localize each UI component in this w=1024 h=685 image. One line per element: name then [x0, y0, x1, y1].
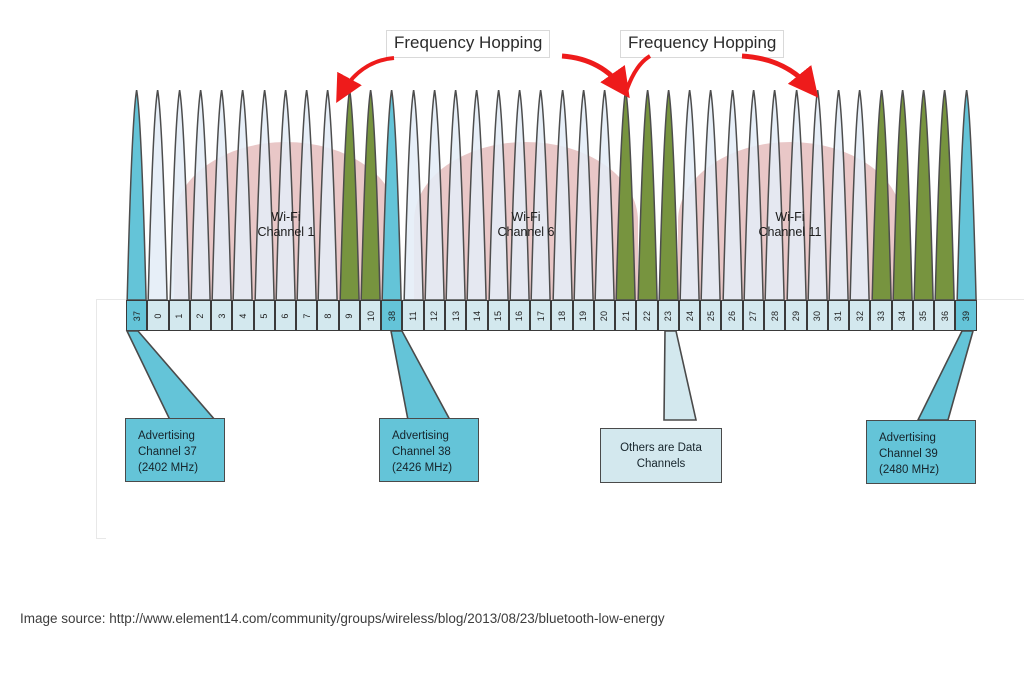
channel-cell-30[interactable]: 30 — [807, 300, 828, 331]
spectrum-lobe-29 — [786, 90, 807, 300]
spectrum-lobe-2 — [190, 90, 211, 300]
channel-cell-19[interactable]: 19 — [573, 300, 594, 331]
channel-cell-label: 7 — [302, 313, 312, 318]
channel-cell-16[interactable]: 16 — [509, 300, 530, 331]
spectrum-lobe-14 — [466, 90, 487, 300]
channel-cell-28[interactable]: 28 — [764, 300, 785, 331]
channel-cell-20[interactable]: 20 — [594, 300, 615, 331]
spectrum-lobe-18 — [552, 90, 573, 300]
channel-cell-label: 23 — [663, 310, 673, 320]
callout-advertising-38[interactable]: Advertising Channel 38 (2426 MHz) — [379, 418, 479, 482]
channel-cell-9[interactable]: 9 — [339, 300, 360, 331]
channel-cell-label: 27 — [748, 310, 758, 320]
callout-line2: Channel 37 — [138, 444, 214, 460]
channel-cell-label: 24 — [685, 310, 695, 320]
wifi-label-line1: Wi-Fi — [730, 210, 850, 225]
channel-cell-label: 10 — [366, 310, 376, 320]
channel-cell-label: 29 — [791, 310, 801, 320]
channel-cell-label: 17 — [536, 310, 546, 320]
callout-line3: (2426 MHz) — [392, 460, 468, 476]
spectrum-lobe-7 — [296, 90, 317, 300]
channel-cell-label: 2 — [195, 313, 205, 318]
channel-cell-label: 28 — [770, 310, 780, 320]
channel-cell-8[interactable]: 8 — [317, 300, 338, 331]
wifi-label-line2: Channel 1 — [226, 225, 346, 240]
channel-cell-7[interactable]: 7 — [296, 300, 317, 331]
spectrum-lobe-22 — [637, 90, 658, 300]
wifi-label-line2: Channel 6 — [466, 225, 586, 240]
channel-cell-18[interactable]: 18 — [551, 300, 572, 331]
spectrum-lobe-5 — [254, 90, 275, 300]
channel-cell-label: 20 — [599, 310, 609, 320]
channel-cell-label: 3 — [217, 313, 227, 318]
wifi-dome-6-label: Wi-Fi Channel 6 — [466, 210, 586, 240]
slide-canvas: Wi-Fi Channel 1 Wi-Fi Channel 6 Wi-Fi Ch… — [0, 0, 1024, 685]
spectrum-lobe-24 — [679, 90, 700, 300]
channel-cell-6[interactable]: 6 — [275, 300, 296, 331]
channel-cell-33[interactable]: 33 — [870, 300, 891, 331]
spectrum-lobe-13 — [445, 90, 466, 300]
spectrum-lobe-21 — [615, 90, 636, 300]
channel-cell-label: 1 — [174, 313, 184, 318]
channel-cell-label: 37 — [132, 310, 142, 320]
spectrum-lobe-34 — [892, 90, 913, 300]
spectrum-lobe-36 — [934, 90, 955, 300]
channel-cell-label: 38 — [387, 310, 397, 320]
spectrum-lobe-9 — [339, 90, 360, 300]
callout-line2: Channels — [609, 456, 713, 472]
channel-cell-label: 32 — [855, 310, 865, 320]
channel-cell-21[interactable]: 21 — [615, 300, 636, 331]
channel-cell-label: 12 — [429, 310, 439, 320]
channel-cell-label: 36 — [940, 310, 950, 320]
wifi-label-line2: Channel 11 — [730, 225, 850, 240]
channel-cell-label: 22 — [642, 310, 652, 320]
callout-line1: Advertising — [879, 430, 965, 446]
spectrum-lobe-27 — [743, 90, 764, 300]
channel-cell-label: 15 — [493, 310, 503, 320]
channel-cell-label: 26 — [727, 310, 737, 320]
spectrum-lobe-38 — [381, 90, 402, 300]
wifi-label-line1: Wi-Fi — [226, 210, 346, 225]
spectrum-lobe-15 — [488, 90, 509, 300]
channel-cell-label: 11 — [408, 311, 418, 321]
channel-cell-label: 18 — [557, 310, 567, 320]
label-frequency-hopping-left: Frequency Hopping — [386, 30, 550, 58]
arrow-hop-to-channel-33 — [740, 52, 830, 102]
channel-cell-label: 14 — [472, 310, 482, 320]
channel-cell-label: 8 — [323, 313, 333, 318]
callout-line1: Advertising — [392, 428, 468, 444]
ble-spectrum-chart: Wi-Fi Channel 1 Wi-Fi Channel 6 Wi-Fi Ch… — [126, 90, 977, 300]
callout-data-channels[interactable]: Others are Data Channels — [600, 428, 722, 483]
callout-line3: (2402 MHz) — [138, 460, 214, 476]
spectrum-lobe-19 — [573, 90, 594, 300]
wifi-dome-1-label: Wi-Fi Channel 1 — [226, 210, 346, 240]
leader-line-adv39 — [900, 325, 1010, 425]
wifi-label-line1: Wi-Fi — [466, 210, 586, 225]
channel-cell-label: 6 — [280, 313, 290, 318]
channel-cell-17[interactable]: 17 — [530, 300, 551, 331]
channel-cell-label: 30 — [812, 310, 822, 320]
channel-cell-label: 19 — [578, 310, 588, 320]
channel-cell-label: 39 — [961, 310, 971, 320]
spectrum-lobe-31 — [828, 90, 849, 300]
callout-advertising-39[interactable]: Advertising Channel 39 (2480 MHz) — [866, 420, 976, 484]
guide-line-bottom — [96, 538, 106, 539]
callout-advertising-37[interactable]: Advertising Channel 37 (2402 MHz) — [125, 418, 225, 482]
spectrum-lobe-17 — [530, 90, 551, 300]
channel-cell-label: 5 — [259, 313, 269, 318]
leader-line-adv38 — [370, 325, 510, 425]
spectrum-lobe-25 — [700, 90, 721, 300]
spectrum-lobe-35 — [913, 90, 934, 300]
channel-cell-label: 21 — [621, 310, 631, 320]
callout-line1: Others are Data — [609, 440, 713, 456]
spectrum-lobe-37 — [126, 90, 147, 300]
spectrum-lobe-39 — [956, 90, 977, 300]
channel-cell-label: 13 — [451, 310, 461, 320]
callout-line3: (2480 MHz) — [879, 462, 965, 478]
spectrum-lobe-6 — [275, 90, 296, 300]
spectrum-lobe-32 — [849, 90, 870, 300]
channel-cell-label: 25 — [706, 310, 716, 320]
channel-cell-29[interactable]: 29 — [785, 300, 806, 331]
channel-cell-label: 4 — [238, 313, 248, 318]
arrow-hop-to-channel-21-right — [614, 52, 654, 100]
image-source-caption: Image source: http://www.element14.com/c… — [20, 611, 665, 626]
channel-cell-label: 34 — [897, 310, 907, 320]
callout-line2: Channel 39 — [879, 446, 965, 462]
spectrum-lobe-28 — [764, 90, 785, 300]
spectrum-lobe-1 — [169, 90, 190, 300]
channel-cell-32[interactable]: 32 — [849, 300, 870, 331]
spectrum-lobe-4 — [232, 90, 253, 300]
spectrum-lobe-10 — [360, 90, 381, 300]
spectrum-lobe-20 — [594, 90, 615, 300]
spectrum-lobe-11 — [403, 90, 424, 300]
spectrum-lobe-16 — [509, 90, 530, 300]
spectrum-lobe-23 — [658, 90, 679, 300]
spectrum-lobe-0 — [147, 90, 168, 300]
spectrum-lobe-12 — [424, 90, 445, 300]
channel-cell-31[interactable]: 31 — [828, 300, 849, 331]
leader-line-adv37 — [110, 325, 270, 425]
callout-line1: Advertising — [138, 428, 214, 444]
channel-cell-label: 31 — [833, 310, 843, 320]
channel-cell-label: 0 — [153, 313, 163, 318]
spectrum-lobe-26 — [722, 90, 743, 300]
channel-cell-label: 35 — [918, 310, 928, 320]
spectrum-lobe-33 — [871, 90, 892, 300]
channel-cell-label: 33 — [876, 310, 886, 320]
guide-line-left — [96, 299, 97, 539]
arrow-hop-to-channel-9 — [330, 52, 400, 104]
wifi-dome-11-label: Wi-Fi Channel 11 — [730, 210, 850, 240]
spectrum-lobe-3 — [211, 90, 232, 300]
spectrum-lobe-30 — [807, 90, 828, 300]
channel-cell-label: 9 — [344, 313, 354, 318]
spectrum-lobe-8 — [317, 90, 338, 300]
leader-line-data-channels — [640, 325, 750, 425]
channel-cell-label: 16 — [514, 310, 524, 320]
callout-line2: Channel 38 — [392, 444, 468, 460]
